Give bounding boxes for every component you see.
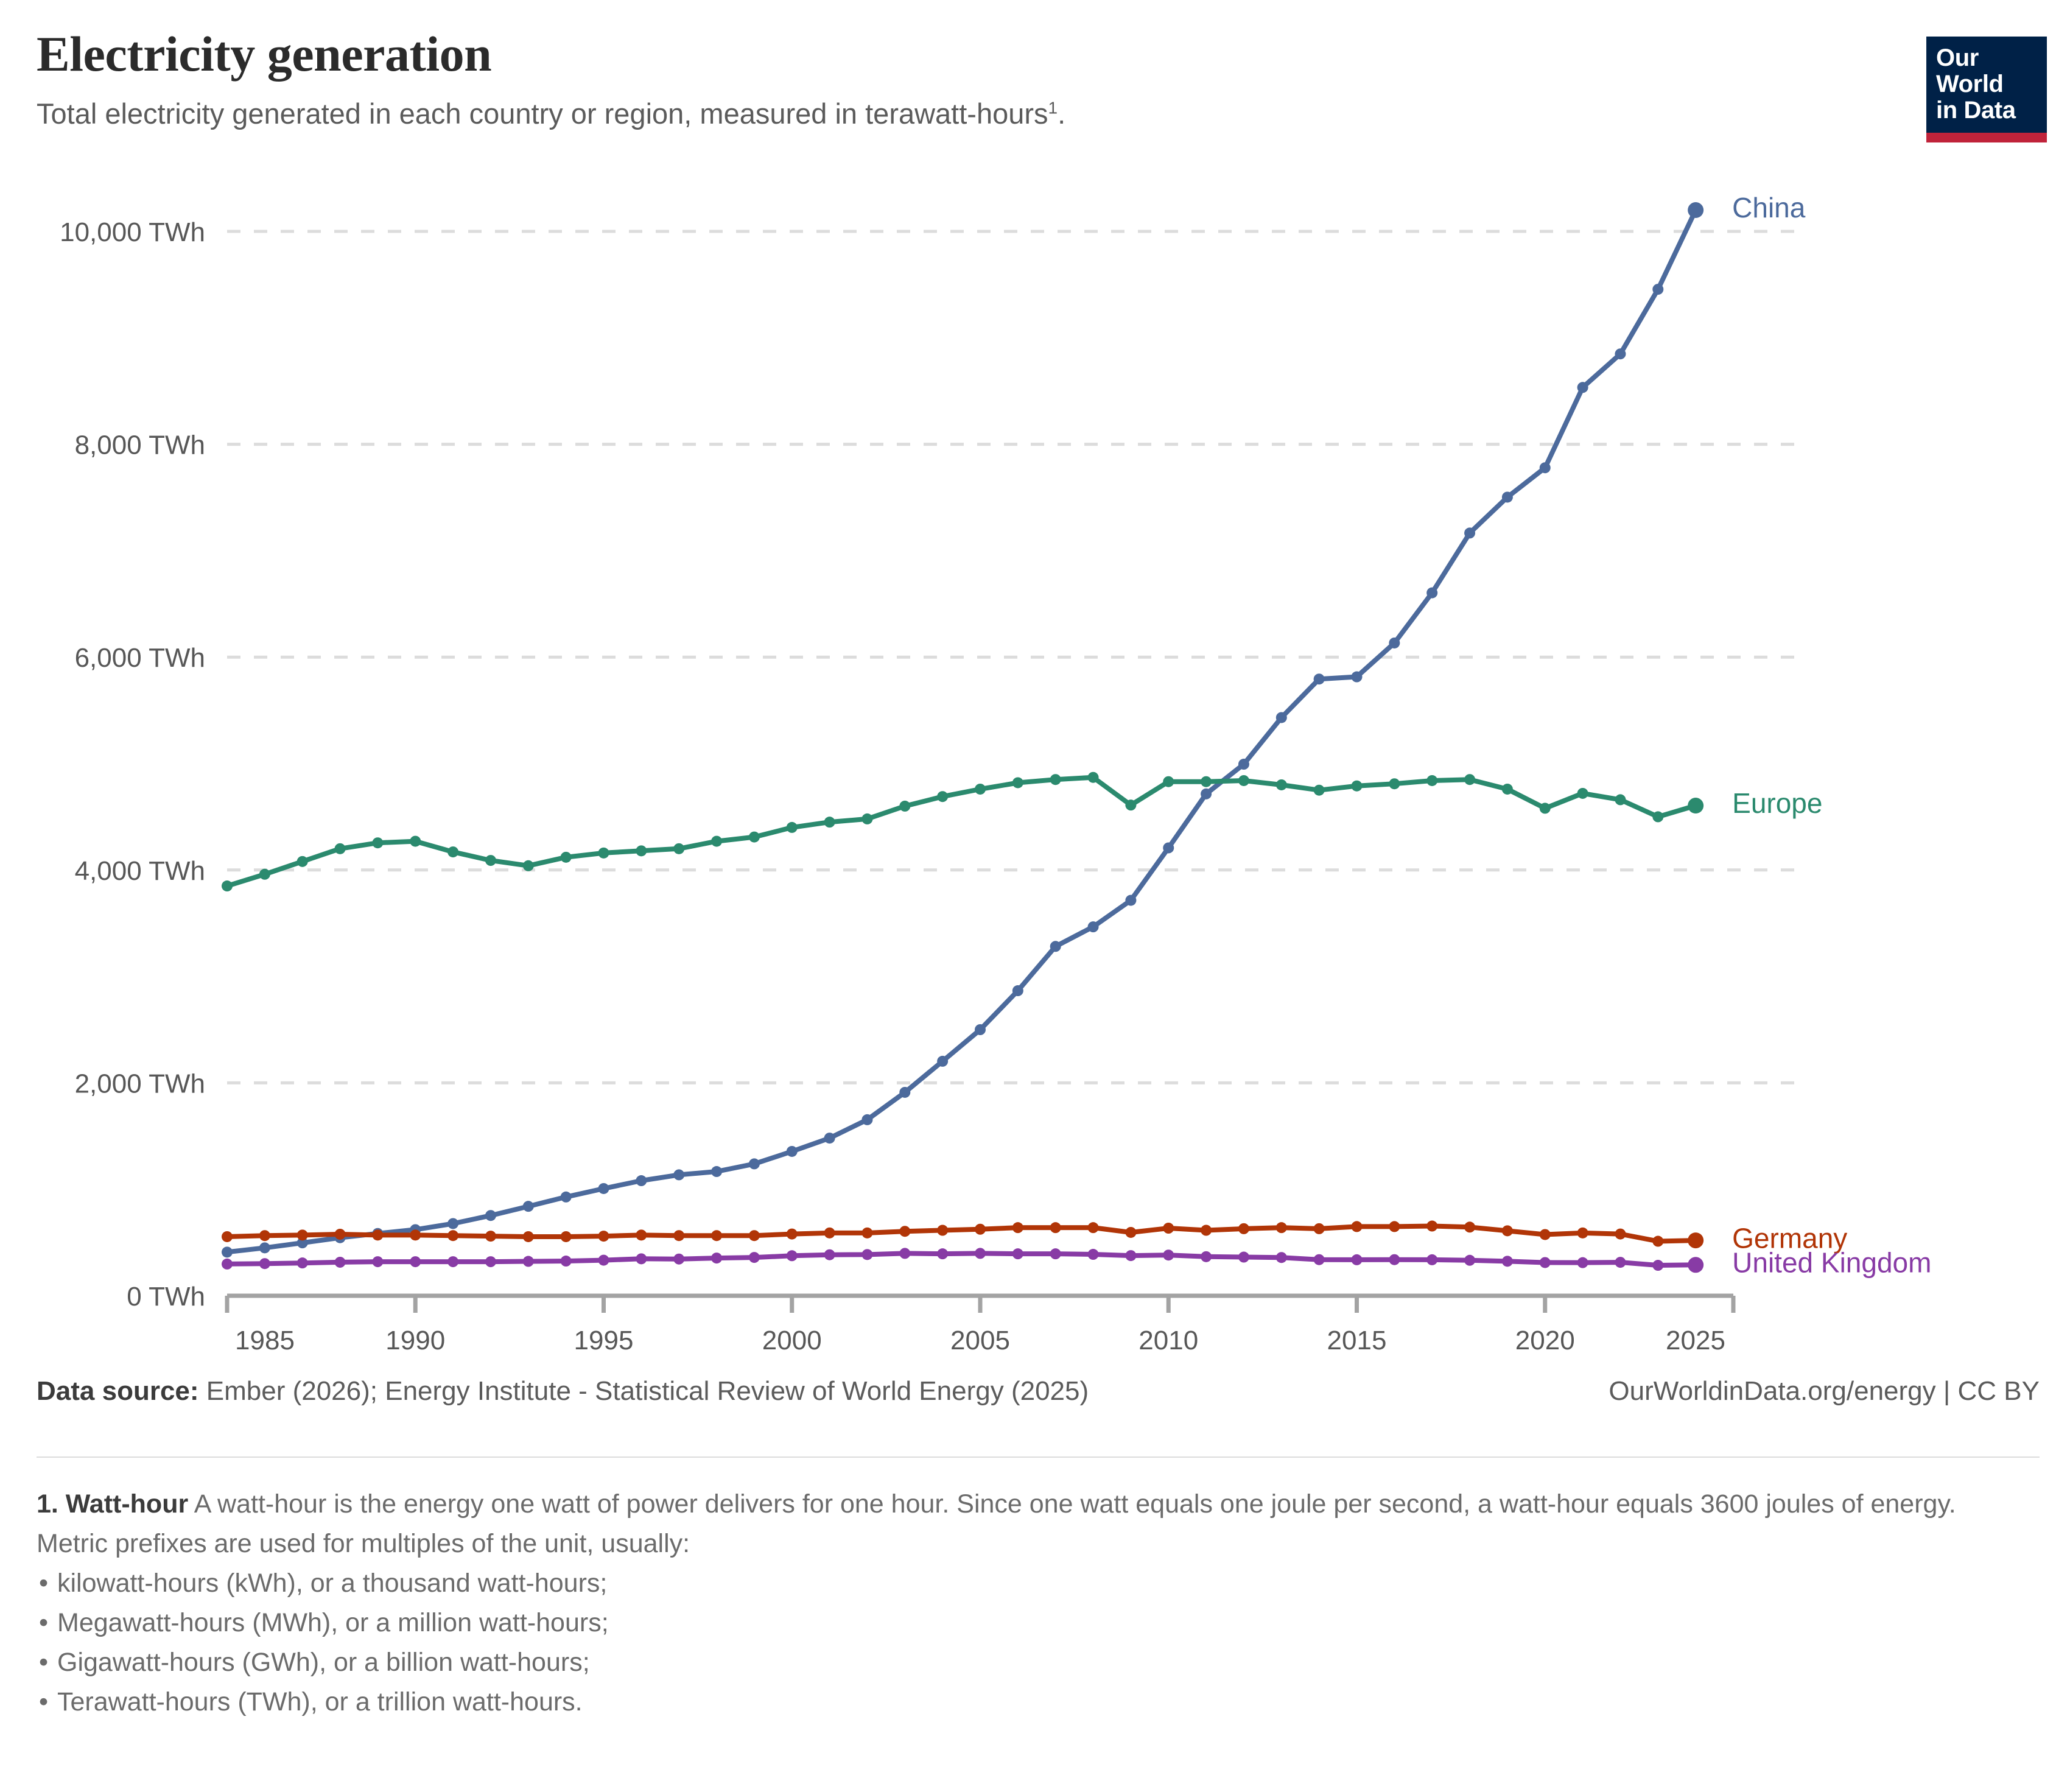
data-point[interactable] bbox=[561, 852, 572, 863]
data-point[interactable] bbox=[673, 1254, 684, 1265]
data-point[interactable] bbox=[447, 846, 458, 857]
data-point[interactable] bbox=[899, 1226, 910, 1237]
data-point[interactable] bbox=[335, 1257, 346, 1268]
data-point[interactable] bbox=[561, 1231, 572, 1242]
data-point[interactable] bbox=[975, 1248, 986, 1259]
data-point[interactable] bbox=[1502, 491, 1513, 502]
data-point[interactable] bbox=[749, 1158, 760, 1169]
chart-svg: 0 TWh2,000 TWh4,000 TWh6,000 TWh8,000 TW… bbox=[0, 0, 2070, 1370]
x-axis-tick-label: 2000 bbox=[762, 1326, 822, 1355]
data-source-text: Ember (2026); Energy Institute - Statist… bbox=[199, 1376, 1089, 1406]
attribution-link[interactable]: OurWorldinData.org/energy | CC BY bbox=[1609, 1376, 2040, 1407]
footnote-bullet: Megawatt-hours (MWh), or a million watt-… bbox=[37, 1604, 2021, 1642]
y-axis-tick-label: 2,000 TWh bbox=[75, 1069, 205, 1098]
x-axis-tick-label: 2015 bbox=[1327, 1326, 1387, 1355]
data-point[interactable] bbox=[372, 1256, 383, 1267]
data-point[interactable] bbox=[937, 1225, 948, 1235]
data-point[interactable] bbox=[711, 1253, 722, 1263]
data-point[interactable] bbox=[1464, 774, 1475, 785]
x-axis-tick-label: 1995 bbox=[574, 1326, 634, 1355]
data-point[interactable] bbox=[598, 1231, 609, 1242]
data-point[interactable] bbox=[787, 1250, 798, 1261]
data-point[interactable] bbox=[636, 1253, 647, 1264]
data-point[interactable] bbox=[1163, 1249, 1174, 1260]
data-point[interactable] bbox=[1502, 784, 1513, 795]
data-point[interactable] bbox=[1050, 1248, 1061, 1259]
data-point[interactable] bbox=[1688, 1257, 1703, 1273]
data-point[interactable] bbox=[861, 1249, 872, 1260]
data-point[interactable] bbox=[1163, 1223, 1174, 1234]
data-point[interactable] bbox=[1012, 985, 1023, 996]
series-line-germany[interactable] bbox=[227, 1226, 1696, 1242]
data-point[interactable] bbox=[673, 1230, 684, 1241]
data-point[interactable] bbox=[523, 860, 534, 871]
data-point[interactable] bbox=[1688, 798, 1703, 813]
data-point[interactable] bbox=[975, 1224, 986, 1235]
data-point[interactable] bbox=[673, 843, 684, 854]
data-point[interactable] bbox=[1615, 1257, 1626, 1268]
data-point[interactable] bbox=[1540, 1257, 1551, 1268]
data-point[interactable] bbox=[861, 1228, 872, 1239]
data-point[interactable] bbox=[1163, 842, 1174, 853]
data-point[interactable] bbox=[1652, 1236, 1663, 1247]
data-point[interactable] bbox=[1615, 348, 1626, 359]
data-point[interactable] bbox=[447, 1218, 458, 1229]
data-point[interactable] bbox=[561, 1256, 572, 1267]
data-point[interactable] bbox=[1352, 1254, 1363, 1265]
data-point[interactable] bbox=[1012, 1222, 1023, 1233]
data-point[interactable] bbox=[297, 1229, 308, 1240]
data-point[interactable] bbox=[372, 837, 383, 848]
data-point[interactable] bbox=[1050, 1222, 1061, 1233]
data-point[interactable] bbox=[1426, 1254, 1437, 1265]
data-point[interactable] bbox=[937, 791, 948, 802]
y-axis-tick-label: 0 TWh bbox=[127, 1282, 205, 1312]
data-point[interactable] bbox=[1050, 774, 1061, 785]
x-axis-tick-label: 1990 bbox=[385, 1326, 445, 1355]
data-point[interactable] bbox=[335, 1229, 346, 1240]
data-point[interactable] bbox=[335, 843, 346, 854]
data-point[interactable] bbox=[1540, 1229, 1551, 1240]
data-point[interactable] bbox=[636, 1229, 647, 1240]
y-axis-tick-label: 6,000 TWh bbox=[75, 643, 205, 673]
data-point[interactable] bbox=[222, 880, 233, 891]
data-point[interactable] bbox=[1125, 895, 1136, 906]
data-source-label: Data source: bbox=[37, 1376, 199, 1406]
data-point[interactable] bbox=[598, 1183, 609, 1194]
data-point[interactable] bbox=[222, 1259, 233, 1270]
data-point[interactable] bbox=[1464, 1255, 1475, 1266]
data-point[interactable] bbox=[222, 1246, 233, 1257]
data-point[interactable] bbox=[975, 784, 986, 795]
x-axis-tick-label: 2020 bbox=[1515, 1326, 1575, 1355]
data-point[interactable] bbox=[749, 1252, 760, 1263]
data-point[interactable] bbox=[410, 1256, 421, 1267]
data-point[interactable] bbox=[1688, 202, 1703, 218]
data-point[interactable] bbox=[899, 1087, 910, 1098]
data-point[interactable] bbox=[561, 1192, 572, 1203]
data-point[interactable] bbox=[259, 869, 270, 880]
data-point[interactable] bbox=[1352, 781, 1363, 792]
footnote-definition-text: A watt-hour is the energy one watt of po… bbox=[188, 1489, 1956, 1519]
x-axis-tick-label: 2010 bbox=[1138, 1326, 1198, 1355]
data-point[interactable] bbox=[1201, 789, 1212, 799]
data-point[interactable] bbox=[636, 1175, 647, 1186]
data-point[interactable] bbox=[1577, 1228, 1588, 1239]
data-point[interactable] bbox=[1088, 772, 1099, 783]
y-axis-tick-label: 8,000 TWh bbox=[75, 430, 205, 460]
data-point[interactable] bbox=[861, 1114, 872, 1125]
footnote-bullet: Gigawatt-hours (GWh), or a billion watt-… bbox=[37, 1644, 2021, 1681]
footer-divider bbox=[37, 1456, 2040, 1458]
data-point[interactable] bbox=[1276, 1222, 1287, 1233]
data-point[interactable] bbox=[485, 1256, 496, 1267]
data-point[interactable] bbox=[937, 1248, 948, 1259]
data-point[interactable] bbox=[297, 856, 308, 867]
line-chart[interactable]: 0 TWh2,000 TWh4,000 TWh6,000 TWh8,000 TW… bbox=[0, 0, 2070, 1370]
data-point[interactable] bbox=[1652, 284, 1663, 295]
data-point[interactable] bbox=[1050, 941, 1061, 952]
data-point[interactable] bbox=[485, 1210, 496, 1221]
x-axis-tick-label: 2005 bbox=[950, 1326, 1010, 1355]
data-point[interactable] bbox=[1464, 527, 1475, 538]
data-point[interactable] bbox=[1389, 638, 1400, 648]
data-point[interactable] bbox=[598, 848, 609, 859]
chart-footer: Data source: Ember (2026); Energy Instit… bbox=[37, 1376, 2040, 1432]
data-point[interactable] bbox=[523, 1201, 534, 1212]
y-axis-tick-label: 4,000 TWh bbox=[75, 856, 205, 886]
data-point[interactable] bbox=[1276, 1252, 1287, 1263]
chart-page: Electricity generation Total electricity… bbox=[0, 0, 2070, 1792]
data-point[interactable] bbox=[673, 1169, 684, 1180]
data-point[interactable] bbox=[937, 1056, 948, 1067]
data-point[interactable] bbox=[1389, 1254, 1400, 1265]
data-point[interactable] bbox=[1540, 803, 1551, 813]
data-point[interactable] bbox=[1464, 1221, 1475, 1232]
data-point[interactable] bbox=[899, 801, 910, 812]
data-point[interactable] bbox=[1352, 672, 1363, 683]
data-point[interactable] bbox=[1652, 811, 1663, 822]
data-point[interactable] bbox=[711, 836, 722, 847]
data-point[interactable] bbox=[1314, 1223, 1325, 1234]
series-line-china[interactable] bbox=[227, 210, 1696, 1252]
data-point[interactable] bbox=[1314, 1254, 1325, 1265]
data-point[interactable] bbox=[1426, 1221, 1437, 1232]
data-point[interactable] bbox=[222, 1231, 233, 1242]
data-point[interactable] bbox=[1352, 1221, 1363, 1232]
data-point[interactable] bbox=[1012, 777, 1023, 788]
data-point[interactable] bbox=[824, 817, 835, 827]
data-point[interactable] bbox=[1238, 759, 1249, 770]
data-point[interactable] bbox=[1012, 1248, 1023, 1259]
data-point[interactable] bbox=[1314, 673, 1325, 684]
data-point[interactable] bbox=[1540, 462, 1551, 473]
data-point[interactable] bbox=[1502, 1256, 1513, 1267]
data-point[interactable] bbox=[1238, 1223, 1249, 1234]
data-point[interactable] bbox=[711, 1230, 722, 1241]
series-label-china[interactable]: China bbox=[1732, 192, 1806, 223]
data-point[interactable] bbox=[1426, 588, 1437, 599]
data-point[interactable] bbox=[824, 1133, 835, 1144]
data-point[interactable] bbox=[1201, 1251, 1212, 1262]
data-point[interactable] bbox=[1615, 1229, 1626, 1240]
data-point[interactable] bbox=[1577, 382, 1588, 393]
data-point[interactable] bbox=[1201, 1225, 1212, 1235]
data-point[interactable] bbox=[1577, 788, 1588, 799]
data-point[interactable] bbox=[1577, 1257, 1588, 1268]
data-point[interactable] bbox=[1238, 1252, 1249, 1263]
data-point[interactable] bbox=[485, 855, 496, 866]
data-point[interactable] bbox=[485, 1231, 496, 1242]
data-point[interactable] bbox=[787, 822, 798, 833]
data-point[interactable] bbox=[975, 1024, 986, 1035]
data-point[interactable] bbox=[1125, 799, 1136, 810]
data-point[interactable] bbox=[1502, 1225, 1513, 1236]
data-source: Data source: Ember (2026); Energy Instit… bbox=[37, 1376, 1089, 1407]
data-point[interactable] bbox=[861, 813, 872, 824]
data-point[interactable] bbox=[1201, 776, 1212, 787]
data-point[interactable] bbox=[1276, 779, 1287, 790]
footnote-definition: 1. Watt-hour A watt-hour is the energy o… bbox=[37, 1486, 2021, 1523]
data-point[interactable] bbox=[1652, 1260, 1663, 1271]
data-point[interactable] bbox=[410, 1229, 421, 1240]
series-label-united-kingdom[interactable]: United Kingdom bbox=[1732, 1246, 1931, 1278]
data-point[interactable] bbox=[1389, 1221, 1400, 1232]
data-point[interactable] bbox=[749, 1230, 760, 1241]
data-point[interactable] bbox=[749, 832, 760, 843]
data-point[interactable] bbox=[1426, 775, 1437, 786]
data-point[interactable] bbox=[447, 1230, 458, 1241]
data-point[interactable] bbox=[1688, 1232, 1703, 1248]
data-point[interactable] bbox=[523, 1256, 534, 1267]
data-point[interactable] bbox=[410, 836, 421, 847]
data-point[interactable] bbox=[259, 1258, 270, 1269]
data-point[interactable] bbox=[899, 1248, 910, 1259]
data-point[interactable] bbox=[372, 1229, 383, 1240]
footnote-bullet-list: kilowatt-hours (kWh), or a thousand watt… bbox=[37, 1565, 2021, 1721]
data-point[interactable] bbox=[787, 1146, 798, 1157]
data-point[interactable] bbox=[1088, 1249, 1099, 1260]
footnote-term: 1. Watt-hour bbox=[37, 1489, 188, 1519]
data-point[interactable] bbox=[1163, 776, 1174, 787]
data-point[interactable] bbox=[259, 1242, 270, 1253]
data-point[interactable] bbox=[1389, 778, 1400, 789]
data-point[interactable] bbox=[1125, 1250, 1136, 1261]
data-point[interactable] bbox=[824, 1228, 835, 1239]
data-point[interactable] bbox=[1615, 794, 1626, 805]
y-axis-tick-label: 10,000 TWh bbox=[60, 217, 205, 247]
data-point[interactable] bbox=[1238, 775, 1249, 786]
data-point[interactable] bbox=[1088, 1222, 1099, 1233]
data-point[interactable] bbox=[297, 1257, 308, 1268]
data-point[interactable] bbox=[259, 1230, 270, 1241]
data-point[interactable] bbox=[711, 1166, 722, 1177]
data-point[interactable] bbox=[447, 1256, 458, 1267]
data-point[interactable] bbox=[598, 1255, 609, 1266]
data-point[interactable] bbox=[636, 845, 647, 856]
footnote-bullet: kilowatt-hours (kWh), or a thousand watt… bbox=[37, 1565, 2021, 1602]
data-point[interactable] bbox=[1088, 921, 1099, 932]
data-point[interactable] bbox=[787, 1229, 798, 1240]
data-point[interactable] bbox=[523, 1231, 534, 1242]
footnote-prefix-intro: Metric prefixes are used for multiples o… bbox=[37, 1525, 2021, 1562]
data-point[interactable] bbox=[1314, 785, 1325, 796]
footnote-block: 1. Watt-hour A watt-hour is the energy o… bbox=[37, 1486, 2021, 1723]
data-point[interactable] bbox=[824, 1249, 835, 1260]
x-axis-tick-label: 2025 bbox=[1666, 1326, 1725, 1355]
data-point[interactable] bbox=[1125, 1227, 1136, 1238]
series-label-europe[interactable]: Europe bbox=[1732, 787, 1822, 819]
series-line-united-kingdom[interactable] bbox=[227, 1253, 1696, 1265]
footnote-bullet: Terawatt-hours (TWh), or a trillion watt… bbox=[37, 1684, 2021, 1721]
data-point[interactable] bbox=[1276, 712, 1287, 723]
x-axis-tick-label: 1985 bbox=[235, 1326, 295, 1355]
